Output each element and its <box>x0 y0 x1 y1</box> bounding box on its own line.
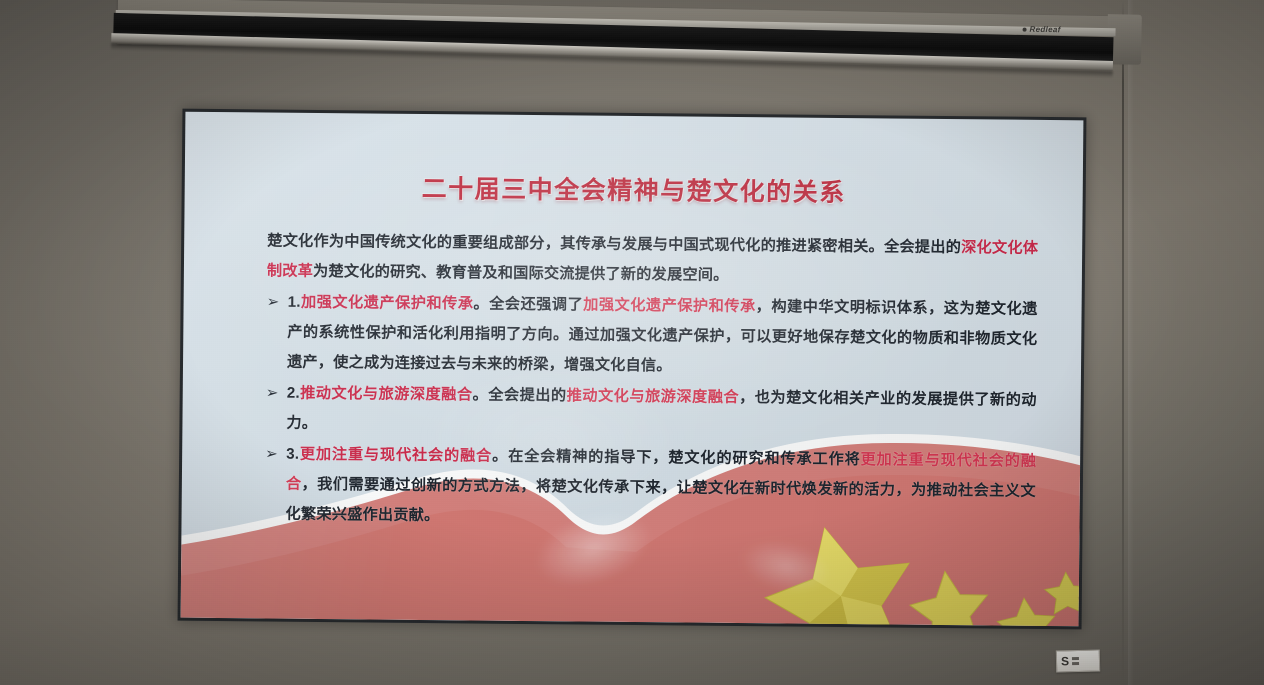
wall-seam-highlight <box>1128 0 1134 685</box>
bullet-1-number: 1. <box>288 294 301 311</box>
bullet-arrow-icon-3: ➢ <box>265 439 286 469</box>
sticker-glyph: S <box>1061 655 1069 667</box>
bullet-arrow-icon-2: ➢ <box>266 378 287 408</box>
bullet-1-heading: 加强文化遗产保护和传承 <box>301 294 474 313</box>
intro-paragraph: 楚文化作为中国传统文化的重要组成部分，其传承与发展与中国式现代化的推进紧密相关。… <box>267 226 1039 293</box>
slide-canvas: 二十届三中全会精神与楚文化的关系 楚文化作为中国传统文化的重要组成部分，其传承与… <box>181 112 1084 627</box>
brand-dot-icon <box>1023 27 1027 31</box>
projector-glare-center <box>422 364 683 516</box>
intro-text-part1: 楚文化作为中国传统文化的重要组成部分，其传承与发展与中国式现代化的推进紧密相关。… <box>267 232 961 256</box>
sticker-bars-icon <box>1072 657 1079 665</box>
intro-text-part2: 为楚文化的研究、教育普及和国际交流提供了新的发展空间。 <box>313 263 729 284</box>
brand-label: Redleaf <box>1029 25 1060 35</box>
bullet-3-number: 3. <box>286 446 299 463</box>
brand-logo: Redleaf <box>1022 25 1060 35</box>
classroom-photo-scene: Redleaf <box>0 0 1264 685</box>
wall-label-sticker: S <box>1056 650 1100 673</box>
bullet-2-number: 2. <box>287 385 300 402</box>
bullet-1-after-heading: 。全会还强调了 <box>473 295 583 313</box>
bullet-arrow-icon-1: ➢ <box>266 287 287 317</box>
projected-slide: 二十届三中全会精神与楚文化的关系 楚文化作为中国传统文化的重要组成部分，其传承与… <box>178 109 1087 630</box>
bullet-1-highlight: 加强文化遗产保护和传承 <box>583 297 756 316</box>
slide-title: 二十届三中全会精神与楚文化的关系 <box>185 167 1083 212</box>
wall-seam-line <box>1122 0 1124 685</box>
